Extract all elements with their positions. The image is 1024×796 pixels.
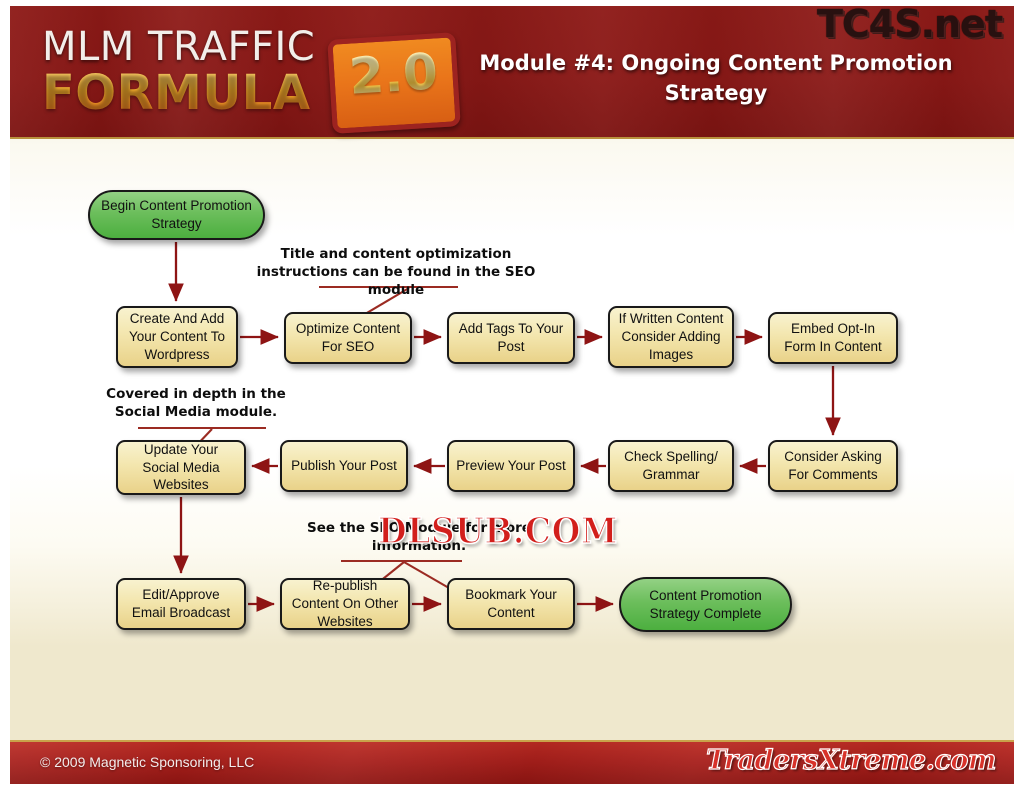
slide-canvas: MLM TRAFFIC FORMULA 2.0 Module #4: Ongoi… (10, 6, 1014, 784)
flow-node-check-spelling[interactable]: Check Spelling/ Grammar (608, 440, 734, 492)
flow-node-ask-comments[interactable]: Consider Asking For Comments (768, 440, 898, 492)
flow-node-bookmark-content[interactable]: Bookmark Your Content (447, 578, 575, 630)
site-watermark: TC4S.net (817, 6, 1002, 46)
flow-node-preview-post[interactable]: Preview Your Post (447, 440, 575, 492)
page-title: Module #4: Ongoing Content Promotion Str… (456, 48, 976, 109)
logo-version-text: 2.0 (333, 45, 454, 102)
dlsub-watermark: DLSUB.COM (378, 509, 618, 551)
flow-node-add-tags[interactable]: Add Tags To Your Post (447, 312, 575, 364)
flow-node-optimize-seo[interactable]: Optimize Content For SEO (284, 312, 412, 364)
flow-node-create-content[interactable]: Create And Add Your Content To Wordpress (116, 306, 238, 368)
logo-line-1: MLM TRAFFIC (42, 24, 315, 70)
slide-header: MLM TRAFFIC FORMULA 2.0 Module #4: Ongoi… (10, 6, 1014, 139)
slide-footer: © 2009 Magnetic Sponsoring, LLC TradersX… (10, 740, 1014, 784)
footer-brand-watermark: TradersXtreme.com (706, 745, 996, 776)
copyright-text: © 2009 Magnetic Sponsoring, LLC (40, 754, 254, 770)
flow-node-republish-content[interactable]: Re-publish Content On Other Websites (280, 578, 410, 630)
brand-logo: MLM TRAFFIC FORMULA 2.0 (42, 24, 442, 120)
flow-node-add-images[interactable]: If Written Content Consider Adding Image… (608, 306, 734, 368)
logo-line-2: FORMULA (42, 65, 311, 121)
slide-page: MLM TRAFFIC FORMULA 2.0 Module #4: Ongoi… (0, 0, 1024, 796)
flow-node-publish-post[interactable]: Publish Your Post (280, 440, 408, 492)
annotation-social-media: Covered in depth in the Social Media mod… (85, 385, 307, 421)
flow-node-embed-optin[interactable]: Embed Opt-In Form In Content (768, 312, 898, 364)
flow-node-email-broadcast[interactable]: Edit/Approve Email Broadcast (116, 578, 246, 630)
logo-version-badge: 2.0 (327, 32, 460, 134)
flow-node-start[interactable]: Begin Content Promotion Strategy (88, 190, 265, 240)
flowchart: Begin Content Promotion Strategy Create … (10, 137, 1014, 742)
annotation-seo-title: Title and content optimization instructi… (250, 245, 542, 300)
flow-node-complete[interactable]: Content Promotion Strategy Complete (619, 577, 792, 632)
flow-node-update-social[interactable]: Update Your Social Media Websites (116, 440, 246, 495)
